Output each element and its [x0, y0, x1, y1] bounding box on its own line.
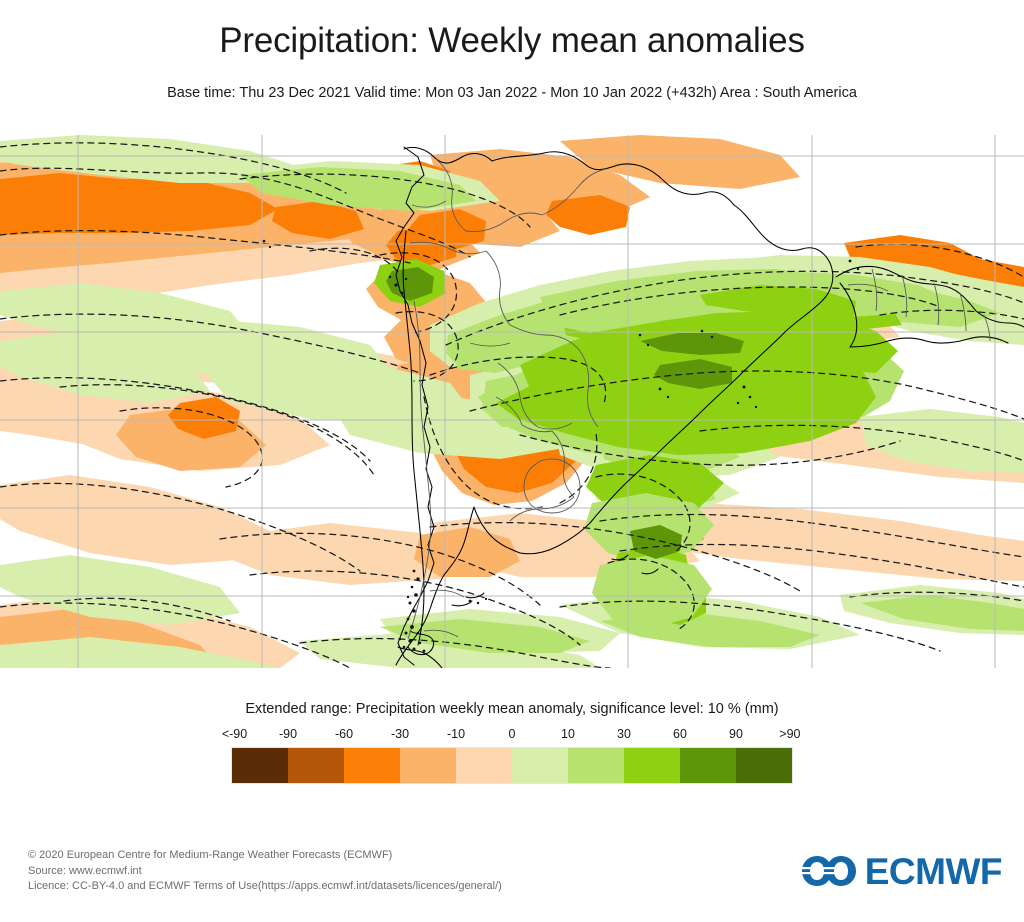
colorbar-tick-label: 90 [729, 726, 743, 742]
footer-licence: Licence: CC-BY-4.0 and ECMWF Terms of Us… [28, 879, 502, 895]
colorbar-tick-label: 10 [561, 726, 575, 742]
footer-copyright: © 2020 European Centre for Medium-Range … [28, 848, 502, 864]
colorbar-band [624, 748, 680, 783]
colorbar-band [456, 748, 512, 783]
colorbar-tick-label: 30 [617, 726, 631, 742]
colorbar-band [344, 748, 400, 783]
colorbar-tick-label: >90 [779, 726, 800, 742]
colorbar-tick-label: -30 [391, 726, 409, 742]
map-panel[interactable] [0, 135, 1024, 668]
colorbar-band [232, 748, 288, 783]
colorbar-band [288, 748, 344, 783]
ecmwf-globe-icon [801, 853, 857, 889]
colorbar-tick-label: -60 [335, 726, 353, 742]
colorbar-tick-labels: <-90-90-60-30-10010306090>90 [232, 726, 792, 744]
colorbar-tick-label: -10 [447, 726, 465, 742]
colorbar-tick-label: 0 [509, 726, 516, 742]
ecmwf-wordmark: ECMWF [865, 853, 1002, 890]
footer-credits: © 2020 European Centre for Medium-Range … [28, 848, 502, 895]
colorbar-title: Extended range: Precipitation weekly mea… [0, 700, 1024, 718]
colorbar-band [512, 748, 568, 783]
colorbar-scale: <-90-90-60-30-10010306090>90 [232, 726, 792, 786]
colorbar-band [736, 748, 792, 783]
colorbar-band [680, 748, 736, 783]
colorbar-tick-label: 60 [673, 726, 687, 742]
colorbar-bands [232, 748, 792, 783]
page-title: Precipitation: Weekly mean anomalies [0, 20, 1024, 62]
colorbar-legend: Extended range: Precipitation weekly mea… [0, 700, 1024, 786]
colorbar-band [400, 748, 456, 783]
footer-source: Source: www.ecmwf.int [28, 864, 502, 880]
precipitation-anomaly-map[interactable] [0, 135, 1024, 668]
chart-subtitle: Base time: Thu 23 Dec 2021 Valid time: M… [0, 84, 1024, 102]
colorbar-band [568, 748, 624, 783]
colorbar-tick-label: <-90 [222, 726, 247, 742]
ecmwf-logo[interactable]: ECMWF [801, 848, 1002, 894]
colorbar-tick-label: -90 [279, 726, 297, 742]
